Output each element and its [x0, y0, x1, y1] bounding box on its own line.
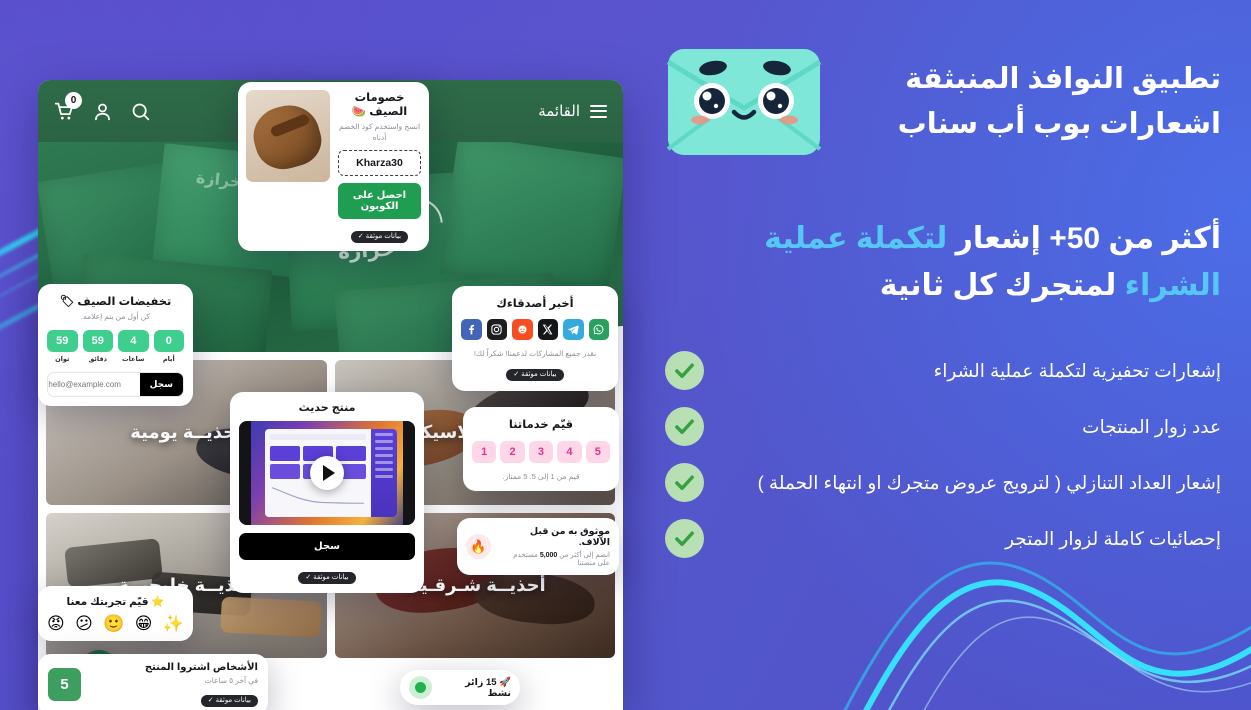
countdown-value: 4 [118, 330, 149, 352]
share-popup-card: أخبر أصدقاءك نقدر جميع المشاركات لدعمنا!… [452, 286, 618, 391]
check-circle-icon [665, 463, 704, 502]
product-title: أحذيــة يومية [130, 422, 242, 443]
emoji-rating-popup-card: ⭐ قيّم تجربتك معنا ✨ 😁 🙂 😕 😡 [38, 586, 193, 641]
x-twitter-icon[interactable] [538, 319, 559, 340]
cart-count-badge: 0 [65, 92, 82, 109]
header-actions: 0 [54, 101, 151, 122]
headline-part2: لمتجرك كل ثانية [880, 269, 1125, 302]
feature-item: إحصائيات كاملة لزوار المتجر [665, 519, 1221, 558]
purchase-count: 5 [48, 668, 81, 701]
marketing-panel: تطبيق النوافذ المنبثقة اشعارات بوب أب سن… [641, 0, 1251, 710]
countdown-timer: 0 أيام 4 ساعات 59 دقائق 59 ثوان [47, 330, 184, 363]
subscribe-form: سجل [47, 372, 184, 397]
headline: أكثر من 50+ إشعار لتكملة عملية الشراء لم… [665, 216, 1221, 309]
user-icon[interactable] [92, 101, 113, 122]
countdown-title: تخفيضات الصيف 🏷 [47, 294, 184, 308]
feature-label: إشعارات تحفيزية لتكملة عملية الشراء [722, 357, 1221, 385]
purchase-title: الأشخاص اشتروا المنتج [91, 662, 258, 673]
headline-accent1: لتكملة عملية [764, 222, 947, 255]
check-circle-icon [665, 407, 704, 446]
brand-header: تطبيق النوافذ المنبثقة اشعارات بوب أب سن… [665, 46, 1221, 158]
feature-list: إشعارات تحفيزية لتكملة عملية الشراء عدد … [665, 351, 1221, 558]
email-input[interactable] [47, 380, 140, 389]
countdown-label: ثوان [47, 355, 78, 363]
product-title: أحذيــة شـرقـيـة [404, 575, 546, 596]
brand-title-line2: اشعارات بوب أب سناب [849, 103, 1221, 147]
rating-score-button[interactable]: 2 [500, 441, 524, 463]
live-dot-icon [409, 676, 432, 699]
feature-label: إحصائيات كاملة لزوار المتجر [722, 525, 1221, 553]
countdown-value: 0 [154, 330, 185, 352]
countdown-subtitle: كن أول من يتم إعلامه. [47, 312, 184, 321]
trust-subtitle: انضم إلى أكثر من 5,000 مستخدم على منصتنا [499, 551, 610, 567]
rating-scores: 5 4 3 2 1 [472, 441, 610, 463]
reddit-icon[interactable] [512, 319, 533, 340]
coupon-product-image [246, 90, 330, 182]
countdown-unit: 4 ساعات [118, 330, 149, 363]
video-signup-button[interactable]: سجل [239, 533, 415, 560]
countdown-label: ساعات [118, 355, 149, 363]
countdown-unit: 0 أيام [154, 330, 185, 363]
active-visitors-popup-card: 🚀 15 زائر نشط [400, 670, 520, 705]
emoji-angry-icon[interactable]: 😡 [47, 615, 65, 632]
video-thumbnail[interactable] [239, 421, 415, 525]
trust-subtitle-count: 5,000 [540, 552, 558, 559]
trust-popup-card: 🔥 موثوق به من قبل الآلاف. انضم إلى أكثر … [457, 518, 619, 575]
countdown-label: دقائق [83, 355, 114, 363]
verified-badge: بيانات موثقة ✓ [506, 369, 563, 381]
coupon-popup-card: خصومات الصيف 🍉 انسخ واستخدم كود الخصم أد… [238, 82, 429, 251]
coupon-subtitle: انسخ واستخدم كود الخصم أدناه [338, 122, 421, 143]
video-title: منتج حديث [239, 401, 415, 414]
coupon-title: خصومات الصيف 🍉 [338, 90, 421, 118]
countdown-unit: 59 دقائق [83, 330, 114, 363]
rating-score-button[interactable]: 3 [529, 441, 553, 463]
social-buttons [461, 319, 609, 340]
subscribe-button[interactable]: سجل [140, 373, 183, 396]
feature-label: إشعار العداد التنازلي ( لترويج عروض متجر… [722, 469, 1221, 497]
trust-subtitle-prefix: انضم إلى أكثر من [557, 552, 610, 559]
emoji-faces: ✨ 😁 🙂 😕 😡 [47, 615, 184, 632]
rating-score-button[interactable]: 5 [586, 441, 610, 463]
check-circle-icon [665, 351, 704, 390]
trust-title: موثوق به من قبل الآلاف. [499, 526, 610, 548]
emoji-happy-icon[interactable]: 😁 [135, 615, 153, 632]
envelope-mascot-icon [665, 46, 823, 158]
coupon-code[interactable]: Kharza30 [338, 150, 421, 176]
hamburger-icon [590, 105, 607, 118]
rating-hint: قيم من 1 إلى 5. 5 ممتاز. [472, 472, 610, 481]
countdown-popup-card: تخفيضات الصيف 🏷 كن أول من يتم إعلامه. 0 … [38, 284, 193, 406]
brand-title-line1: تطبيق النوافذ المنبثقة [849, 58, 1221, 102]
feature-item: إشعارات تحفيزية لتكملة عملية الشراء [665, 351, 1221, 390]
countdown-label: أيام [154, 355, 185, 363]
rating-score-button[interactable]: 4 [557, 441, 581, 463]
facebook-icon[interactable] [461, 319, 482, 340]
rating-title: قيّم خدماتنا [472, 417, 610, 431]
verified-badge: بيانات موثقة ✓ [201, 695, 258, 707]
countdown-value: 59 [47, 330, 78, 352]
search-icon[interactable] [130, 101, 151, 122]
instagram-icon[interactable] [487, 319, 508, 340]
verified-badge: بيانات موثقة ✓ [298, 572, 355, 584]
video-popup-card: منتج حديث سجل بيانات موثقة ✓ [230, 392, 424, 593]
feature-label: عدد زوار المنتجات [722, 413, 1221, 441]
headline-part1: أكثر من 50+ إشعار [947, 222, 1221, 255]
share-note: نقدر جميع المشاركات لدعمنا! شكراً لك! [461, 349, 609, 358]
flame-icon: 🔥 [466, 534, 491, 559]
feature-item: إشعار العداد التنازلي ( لترويج عروض متجر… [665, 463, 1221, 502]
emoji-confused-icon[interactable]: 😕 [75, 615, 93, 632]
purchase-subtitle: في آخر ٥ ساعات [91, 676, 258, 685]
rating-score-button[interactable]: 1 [472, 441, 496, 463]
share-title: أخبر أصدقاءك [461, 296, 609, 310]
active-visitors-label: 🚀 15 زائر نشط [440, 677, 511, 699]
rating-popup-card: قيّم خدماتنا 5 4 3 2 1 قيم من 1 إلى 5. 5… [463, 407, 619, 491]
get-coupon-button[interactable]: احصل على الكوبون [338, 183, 421, 219]
emoji-rating-title: ⭐ قيّم تجربتك معنا [47, 595, 184, 608]
headline-accent2: الشراء [1125, 269, 1221, 302]
countdown-value: 59 [83, 330, 114, 352]
verified-badge: بيانات موثقة ✓ [351, 231, 408, 243]
countdown-unit: 59 ثوان [47, 330, 78, 363]
telegram-icon[interactable] [563, 319, 584, 340]
cart-icon[interactable]: 0 [54, 101, 75, 122]
menu-label: القائمة [538, 102, 580, 120]
whatsapp-icon[interactable] [589, 319, 610, 340]
emoji-neutral-icon[interactable]: 🙂 [103, 615, 124, 632]
play-icon[interactable] [310, 456, 344, 490]
check-circle-icon [665, 519, 704, 558]
menu-button[interactable]: القائمة [538, 102, 607, 120]
feature-item: عدد زوار المنتجات [665, 407, 1221, 446]
purchase-popup-card: 5 الأشخاص اشتروا المنتج في آخر ٥ ساعات ب… [38, 654, 268, 710]
page-title: تطبيق النوافذ المنبثقة اشعارات بوب أب سن… [849, 58, 1221, 147]
sparkles-icon: ✨ [163, 615, 184, 632]
